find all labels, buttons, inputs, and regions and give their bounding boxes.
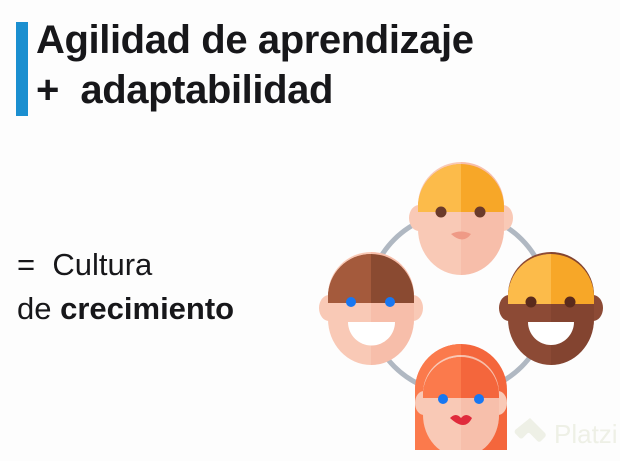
eye-right bbox=[475, 207, 486, 218]
result-line-2-prefix: de bbox=[17, 291, 60, 326]
result-line-1: = Cultura bbox=[17, 243, 297, 287]
eye-left bbox=[526, 297, 537, 308]
face-right-dark-skin-man bbox=[499, 252, 603, 365]
result-text: = Cultura de crecimiento bbox=[17, 243, 297, 331]
eye-left bbox=[436, 207, 447, 218]
slide-canvas: Agilidad de aprendizaje + adaptabilidad … bbox=[0, 0, 620, 461]
result-line-2-emphasis: crecimiento bbox=[60, 291, 234, 326]
eye-left bbox=[438, 394, 448, 404]
platzi-watermark: Platzi bbox=[512, 414, 616, 456]
hair-highlight bbox=[328, 254, 371, 303]
page-title: Agilidad de aprendizaje + adaptabilidad bbox=[36, 15, 556, 115]
platzi-wordmark: Platzi bbox=[554, 419, 616, 449]
eye-right bbox=[565, 297, 576, 308]
hair-highlight bbox=[418, 164, 461, 212]
platzi-logo-icon bbox=[515, 418, 546, 442]
face-bottom-redhead-woman bbox=[415, 344, 507, 450]
hair-highlight bbox=[508, 254, 551, 304]
face-top-blond-man bbox=[409, 162, 513, 275]
four-people-circle-illustration bbox=[318, 150, 608, 450]
eye-right bbox=[474, 394, 484, 404]
eye-left bbox=[346, 297, 356, 307]
eye-right bbox=[385, 297, 395, 307]
face-left-brown-hair-man bbox=[319, 252, 423, 365]
accent-bar bbox=[16, 22, 28, 116]
title-line-1: Agilidad de aprendizaje bbox=[36, 15, 556, 65]
title-line-2: + adaptabilidad bbox=[36, 65, 556, 115]
result-line-2: de crecimiento bbox=[17, 287, 297, 331]
